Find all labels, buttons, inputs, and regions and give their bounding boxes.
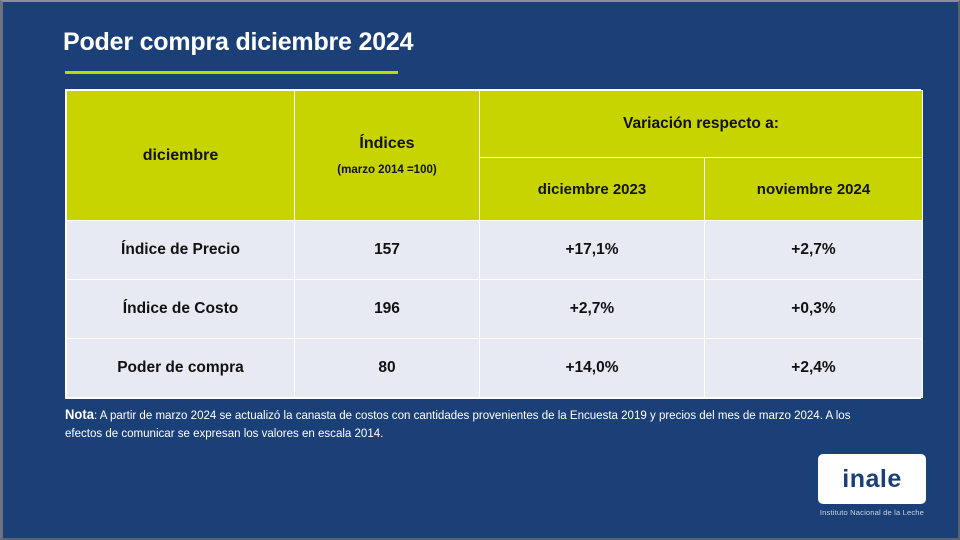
page-title: Poder compra diciembre 2024 <box>63 28 413 57</box>
row-poder-compra-var-dic: +14,0% <box>480 339 705 398</box>
logo-caption: Instituto Nacional de la Leche <box>818 508 926 517</box>
title-underline-rule <box>65 71 398 74</box>
header-cell-dic-2023: diciembre 2023 <box>480 157 705 220</box>
table-header-row-top: diciembre Índices (marzo 2014 =100) Vari… <box>67 91 923 158</box>
table-row: Poder de compra 80 +14,0% +2,4% <box>67 339 923 398</box>
logo-wordmark: inale <box>842 467 901 492</box>
logo: inale Instituto Nacional de la Leche <box>818 454 926 517</box>
footnote-label: Nota <box>65 406 94 422</box>
row-indice-costo-var-dic: +2,7% <box>480 280 705 339</box>
row-poder-compra-value: 80 <box>295 339 480 398</box>
header-cell-variation-group: Variación respecto a: <box>480 91 923 158</box>
logo-box: inale <box>818 454 926 504</box>
row-indice-costo-var-nov: +0,3% <box>705 280 923 339</box>
row-label-indice-precio: Índice de Precio <box>67 221 295 280</box>
row-indice-costo-value: 196 <box>295 280 480 339</box>
row-label-indice-costo: Índice de Costo <box>67 280 295 339</box>
header-cell-nov-2024: noviembre 2024 <box>705 157 923 220</box>
purchasing-power-table: diciembre Índices (marzo 2014 =100) Vari… <box>65 89 921 399</box>
row-indice-precio-value: 157 <box>295 221 480 280</box>
table-row: Índice de Precio 157 +17,1% +2,7% <box>67 221 923 280</box>
footnote-text: : A partir de marzo 2024 se actualizó la… <box>65 408 850 440</box>
header-indices-title: Índices <box>359 135 414 152</box>
row-indice-precio-var-dic: +17,1% <box>480 221 705 280</box>
row-poder-compra-var-nov: +2,4% <box>705 339 923 398</box>
row-indice-precio-var-nov: +2,7% <box>705 221 923 280</box>
slide-background: Poder compra diciembre 2024 diciembre Ín… <box>3 2 958 538</box>
header-cell-indices: Índices (marzo 2014 =100) <box>295 91 480 221</box>
row-label-poder-compra: Poder de compra <box>67 339 295 398</box>
header-indices-note: (marzo 2014 =100) <box>295 164 479 176</box>
footnote: Nota: A partir de marzo 2024 se actualiz… <box>65 405 865 442</box>
header-cell-month: diciembre <box>67 91 295 221</box>
table-row: Índice de Costo 196 +2,7% +0,3% <box>67 280 923 339</box>
slide: Poder compra diciembre 2024 diciembre Ín… <box>0 0 960 540</box>
